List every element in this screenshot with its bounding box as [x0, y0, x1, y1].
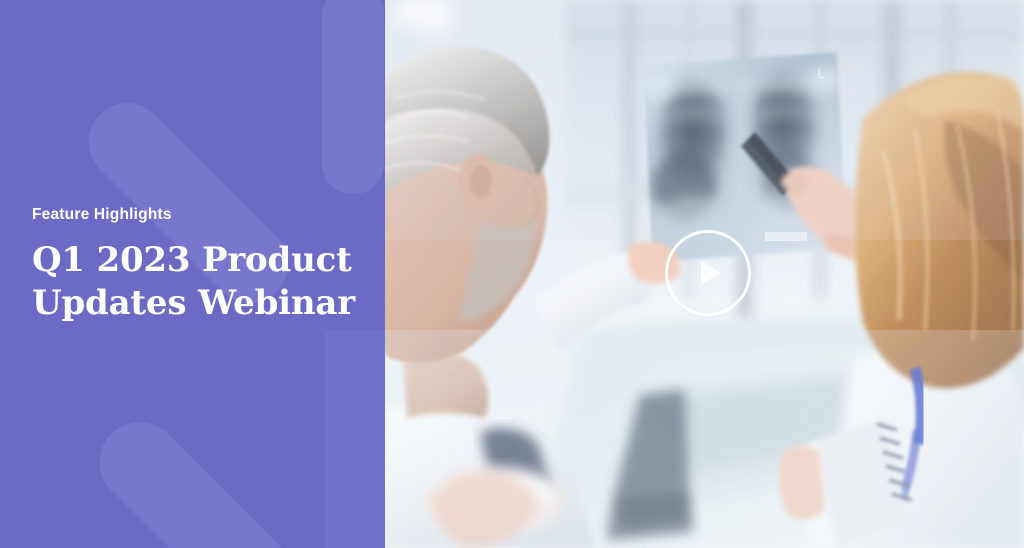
decorative-bar-diagonal-bottom [83, 406, 327, 548]
webinar-hero-banner: Feature Highlights Q1 2023 Product Updat… [0, 0, 1024, 548]
play-button[interactable] [665, 230, 751, 316]
webinar-video-thumbnail[interactable]: L [385, 0, 1024, 548]
decorative-band-right [325, 330, 385, 548]
eyebrow-label: Feature Highlights [32, 206, 362, 225]
play-triangle-icon [701, 261, 721, 285]
hero-copy-block: Feature Highlights Q1 2023 Product Updat… [32, 206, 362, 325]
page-title: Q1 2023 Product Updates Webinar [32, 239, 362, 325]
decorative-bar-vertical [322, 0, 384, 194]
hero-text-panel: Feature Highlights Q1 2023 Product Updat… [0, 0, 385, 548]
headline-line-2: Updates Webinar [32, 283, 355, 323]
headline-line-1: Q1 2023 Product [32, 240, 352, 280]
